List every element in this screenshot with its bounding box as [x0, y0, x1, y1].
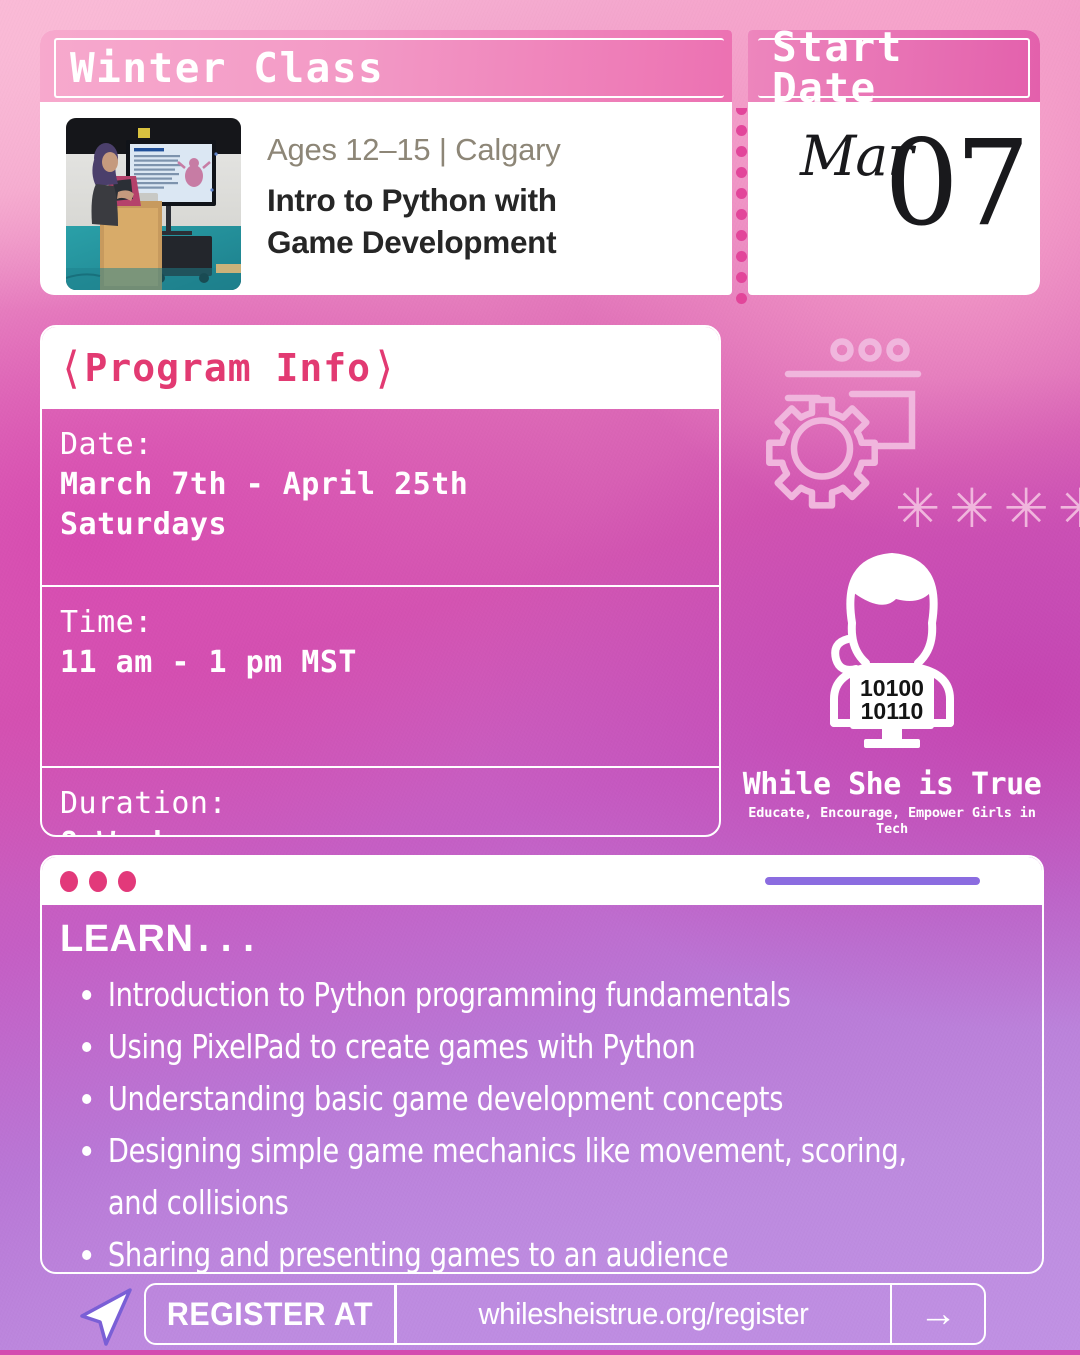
list-item: Designing simple game mechanics like mov… — [60, 1125, 940, 1229]
asterisk-icon-3: ✳ — [1004, 482, 1049, 536]
date-value-line1: March 7th - April 25th — [60, 465, 719, 506]
register-url[interactable]: whilesheistrue.org/register — [411, 1285, 874, 1343]
arrow-right-icon[interactable]: → — [892, 1285, 984, 1343]
url-bar-placeholder — [765, 877, 980, 885]
asterisk-icon-2: ✳ — [949, 482, 994, 536]
learn-heading: LEARN... — [60, 919, 1016, 961]
angle-bracket-open-icon: ⟨ — [58, 343, 85, 394]
program-info-card: ⟨ Program Info ⟩ Date: March 7th - April… — [40, 325, 721, 837]
list-item: Using PixelPad to create games with Pyth… — [60, 1021, 940, 1073]
asterisk-icon-1: ✳ — [895, 482, 940, 536]
class-title-line1: Intro to Python with — [267, 180, 561, 222]
asterisk-icon-4: ✳ — [1058, 482, 1080, 536]
learn-heading-ellipsis: ... — [193, 920, 260, 960]
start-date-value: Mar 07 — [748, 102, 1040, 295]
binary-line-2: 10110 — [861, 698, 924, 724]
register-cta[interactable]: REGISTER AT whilesheistrue.org/register … — [144, 1283, 986, 1345]
ticket-left-panel: Winter Class — [40, 30, 732, 295]
register-footer: REGISTER AT whilesheistrue.org/register … — [76, 1283, 982, 1341]
list-item: Introduction to Python programming funda… — [60, 969, 940, 1021]
learn-list: Introduction to Python programming funda… — [60, 969, 1016, 1274]
class-title-line2: Game Development — [267, 222, 561, 264]
instructor-presenting-photo — [66, 118, 241, 290]
duration-label: Duration: — [60, 784, 719, 824]
organization-name: While She is True — [734, 767, 1050, 802]
list-item: Understanding basic game development con… — [60, 1073, 940, 1125]
decoration-column: ✳ ✳ ✳ ✳ 10100 — [730, 332, 1050, 832]
date-value-line2: Saturdays — [60, 505, 719, 546]
organization-logo: 10100 10110 While She is True Educate, E… — [734, 547, 1050, 837]
asterisk-decoration: ✳ ✳ ✳ ✳ — [895, 482, 1080, 536]
program-info-row-time: Time: 11 am - 1 pm MST — [42, 585, 719, 766]
program-info-title: Program Info — [85, 346, 372, 390]
register-at-label: REGISTER AT — [152, 1285, 388, 1343]
winter-class-label: Winter Class — [56, 48, 384, 89]
window-dots-icon — [60, 871, 136, 892]
learn-card: LEARN... Introduction to Python programm… — [40, 855, 1044, 1274]
mouse-cursor-icon — [76, 1286, 142, 1350]
time-label: Time: — [60, 603, 719, 643]
girl-at-computer-icon: 10100 10110 — [776, 547, 1008, 763]
program-info-row-date: Date: March 7th - April 25th Saturdays — [42, 409, 719, 585]
ticket-right-panel: Start Date Mar 07 — [748, 30, 1040, 295]
list-item: Sharing and presenting games to an audie… — [60, 1229, 940, 1274]
angle-bracket-close-icon: ⟩ — [371, 343, 398, 394]
start-date-label: Start Date — [758, 30, 1028, 109]
organization-tagline: Educate, Encourage, Empower Girls in Tec… — [734, 805, 1050, 837]
ticket-left-header: Winter Class — [40, 30, 732, 102]
time-value: 11 am - 1 pm MST — [60, 643, 719, 684]
ages-location-label: Ages 12–15 | Calgary — [267, 132, 561, 168]
program-info-header: ⟨ Program Info ⟩ — [42, 327, 719, 409]
divider — [394, 1285, 397, 1343]
start-day: 07 — [884, 124, 1026, 242]
program-info-row-duration: Duration: 8 Weeks — [42, 766, 719, 837]
class-ticket-card: Winter Class — [40, 30, 1040, 295]
browser-chrome-bar — [42, 857, 1042, 905]
learn-heading-text: LEARN — [60, 918, 193, 960]
ticket-perforation — [734, 102, 748, 310]
duration-value: 8 Weeks — [60, 824, 719, 837]
date-label: Date: — [60, 425, 719, 465]
ticket-right-header: Start Date — [748, 30, 1040, 102]
